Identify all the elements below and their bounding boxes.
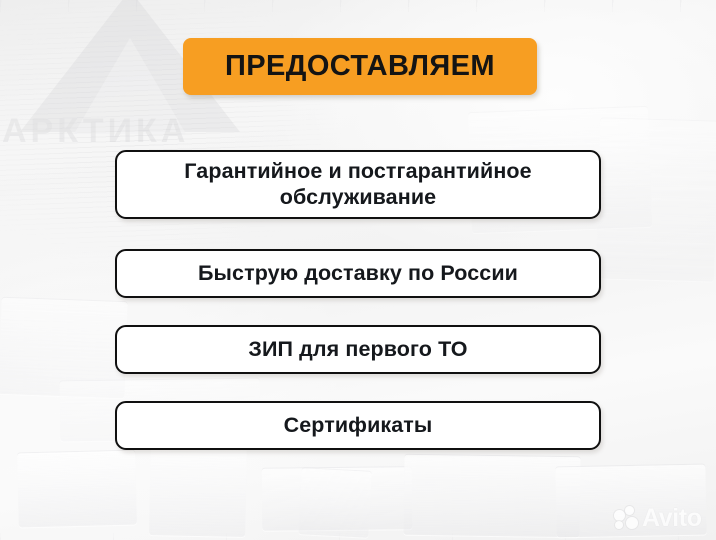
benefit-item: Быструю доставку по России (115, 249, 601, 298)
benefit-item: ЗИП для первого ТО (115, 325, 601, 374)
benefit-item: Гарантийное и постгарантийное обслуживан… (115, 150, 601, 219)
heading-badge: ПРЕДОСТАВЛЯЕМ (183, 38, 537, 95)
benefit-item-label: Гарантийное и постгарантийное обслуживан… (117, 159, 599, 210)
benefit-item-label: Сертификаты (270, 413, 447, 438)
benefit-item-label: ЗИП для первого ТО (234, 337, 481, 362)
heading-badge-label: ПРЕДОСТАВЛЯЕМ (225, 52, 495, 81)
benefit-item: Сертификаты (115, 401, 601, 450)
promo-slide: АРКТИКА ПРЕДОСТАВЛЯЕМ Гарантийное и пост… (0, 0, 716, 540)
benefit-item-label: Быструю доставку по России (184, 261, 532, 286)
